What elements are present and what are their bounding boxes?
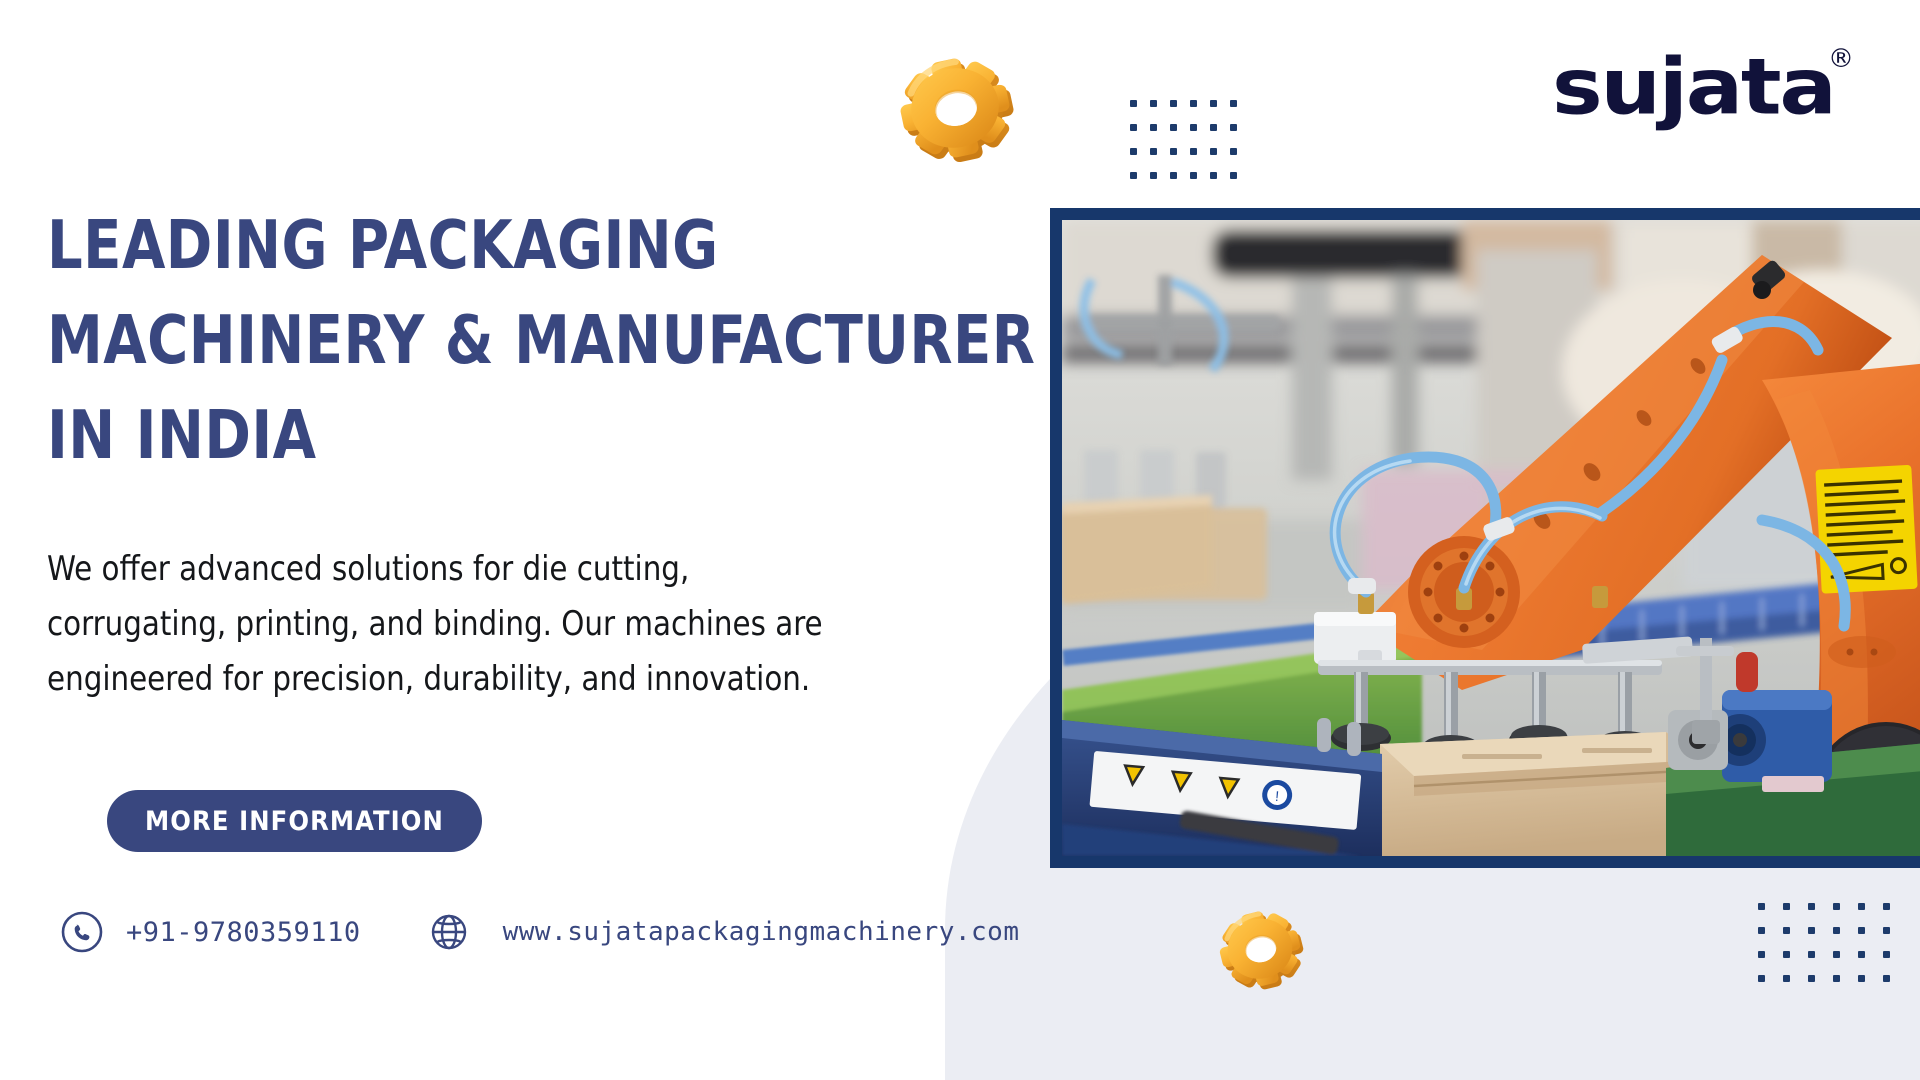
dot xyxy=(1210,172,1217,179)
dot-grid-decoration-bottom xyxy=(1758,903,1908,999)
hero-photo: ! xyxy=(1062,220,1920,856)
dot xyxy=(1230,148,1237,155)
dot xyxy=(1808,903,1815,910)
dot xyxy=(1833,903,1840,910)
dot xyxy=(1858,903,1865,910)
dot xyxy=(1170,172,1177,179)
dot xyxy=(1883,975,1890,982)
dot xyxy=(1190,124,1197,131)
dot xyxy=(1150,124,1157,131)
contact-website[interactable]: www.sujatapackagingmachinery.com xyxy=(427,910,1020,954)
dot xyxy=(1150,100,1157,107)
phone-circle-icon xyxy=(60,910,104,954)
dot xyxy=(1230,124,1237,131)
contact-phone-value: +91-9780359110 xyxy=(126,917,361,948)
dot-grid-decoration-top xyxy=(1130,100,1250,196)
dot xyxy=(1783,903,1790,910)
hero-photo-frame: ! xyxy=(1050,208,1920,868)
dot xyxy=(1150,148,1157,155)
dot xyxy=(1783,975,1790,982)
dot xyxy=(1783,927,1790,934)
dot xyxy=(1808,975,1815,982)
more-information-button[interactable]: MORE INFORMATION xyxy=(107,790,482,852)
dot xyxy=(1210,100,1217,107)
gear-icon xyxy=(1212,900,1308,996)
dot xyxy=(1783,951,1790,958)
dot xyxy=(1858,927,1865,934)
dot xyxy=(1130,124,1137,131)
dot xyxy=(1758,975,1765,982)
dot xyxy=(1230,100,1237,107)
subcopy-line-3: engineered for precision, durability, an… xyxy=(47,652,997,707)
dot xyxy=(1190,172,1197,179)
dot xyxy=(1210,124,1217,131)
dot xyxy=(1808,951,1815,958)
dot xyxy=(1883,951,1890,958)
dot xyxy=(1758,903,1765,910)
more-information-button-label: MORE INFORMATION xyxy=(145,806,444,837)
dot xyxy=(1150,172,1157,179)
dot xyxy=(1130,172,1137,179)
headline-line-2: MACHINERY & MANUFACTURER xyxy=(47,293,986,388)
dot xyxy=(1833,951,1840,958)
dot xyxy=(1833,975,1840,982)
dot xyxy=(1170,148,1177,155)
gear-icon xyxy=(890,42,1020,172)
dot xyxy=(1858,951,1865,958)
dot xyxy=(1808,927,1815,934)
headline-line-3: IN INDIA xyxy=(47,388,986,483)
globe-icon xyxy=(427,910,471,954)
subcopy-line-2: corrugating, printing, and binding. Our … xyxy=(47,597,997,652)
brand-logo-wordmark: sujata xyxy=(1552,48,1835,126)
dot xyxy=(1210,148,1217,155)
dot xyxy=(1190,148,1197,155)
dot xyxy=(1883,927,1890,934)
dot xyxy=(1130,148,1137,155)
dot xyxy=(1758,927,1765,934)
subcopy-line-1: We offer advanced solutions for die cutt… xyxy=(47,542,997,597)
subheading-paragraph: We offer advanced solutions for die cutt… xyxy=(47,542,1037,707)
dot xyxy=(1833,927,1840,934)
dot xyxy=(1170,124,1177,131)
dot xyxy=(1858,975,1865,982)
dot xyxy=(1758,951,1765,958)
footer-contact-bar: +91-9780359110 www.sujatapackagingmachin… xyxy=(60,910,1019,954)
contact-phone[interactable]: +91-9780359110 xyxy=(60,910,361,954)
dot xyxy=(1230,172,1237,179)
brand-logo: sujata ® xyxy=(1552,48,1854,124)
headline-line-1: LEADING PACKAGING xyxy=(47,198,986,293)
dot xyxy=(1883,903,1890,910)
dot xyxy=(1190,100,1197,107)
page-title: LEADING PACKAGING MACHINERY & MANUFACTUR… xyxy=(47,198,1057,483)
dot xyxy=(1130,100,1137,107)
contact-website-value: www.sujatapackagingmachinery.com xyxy=(503,917,1020,947)
dot xyxy=(1170,100,1177,107)
